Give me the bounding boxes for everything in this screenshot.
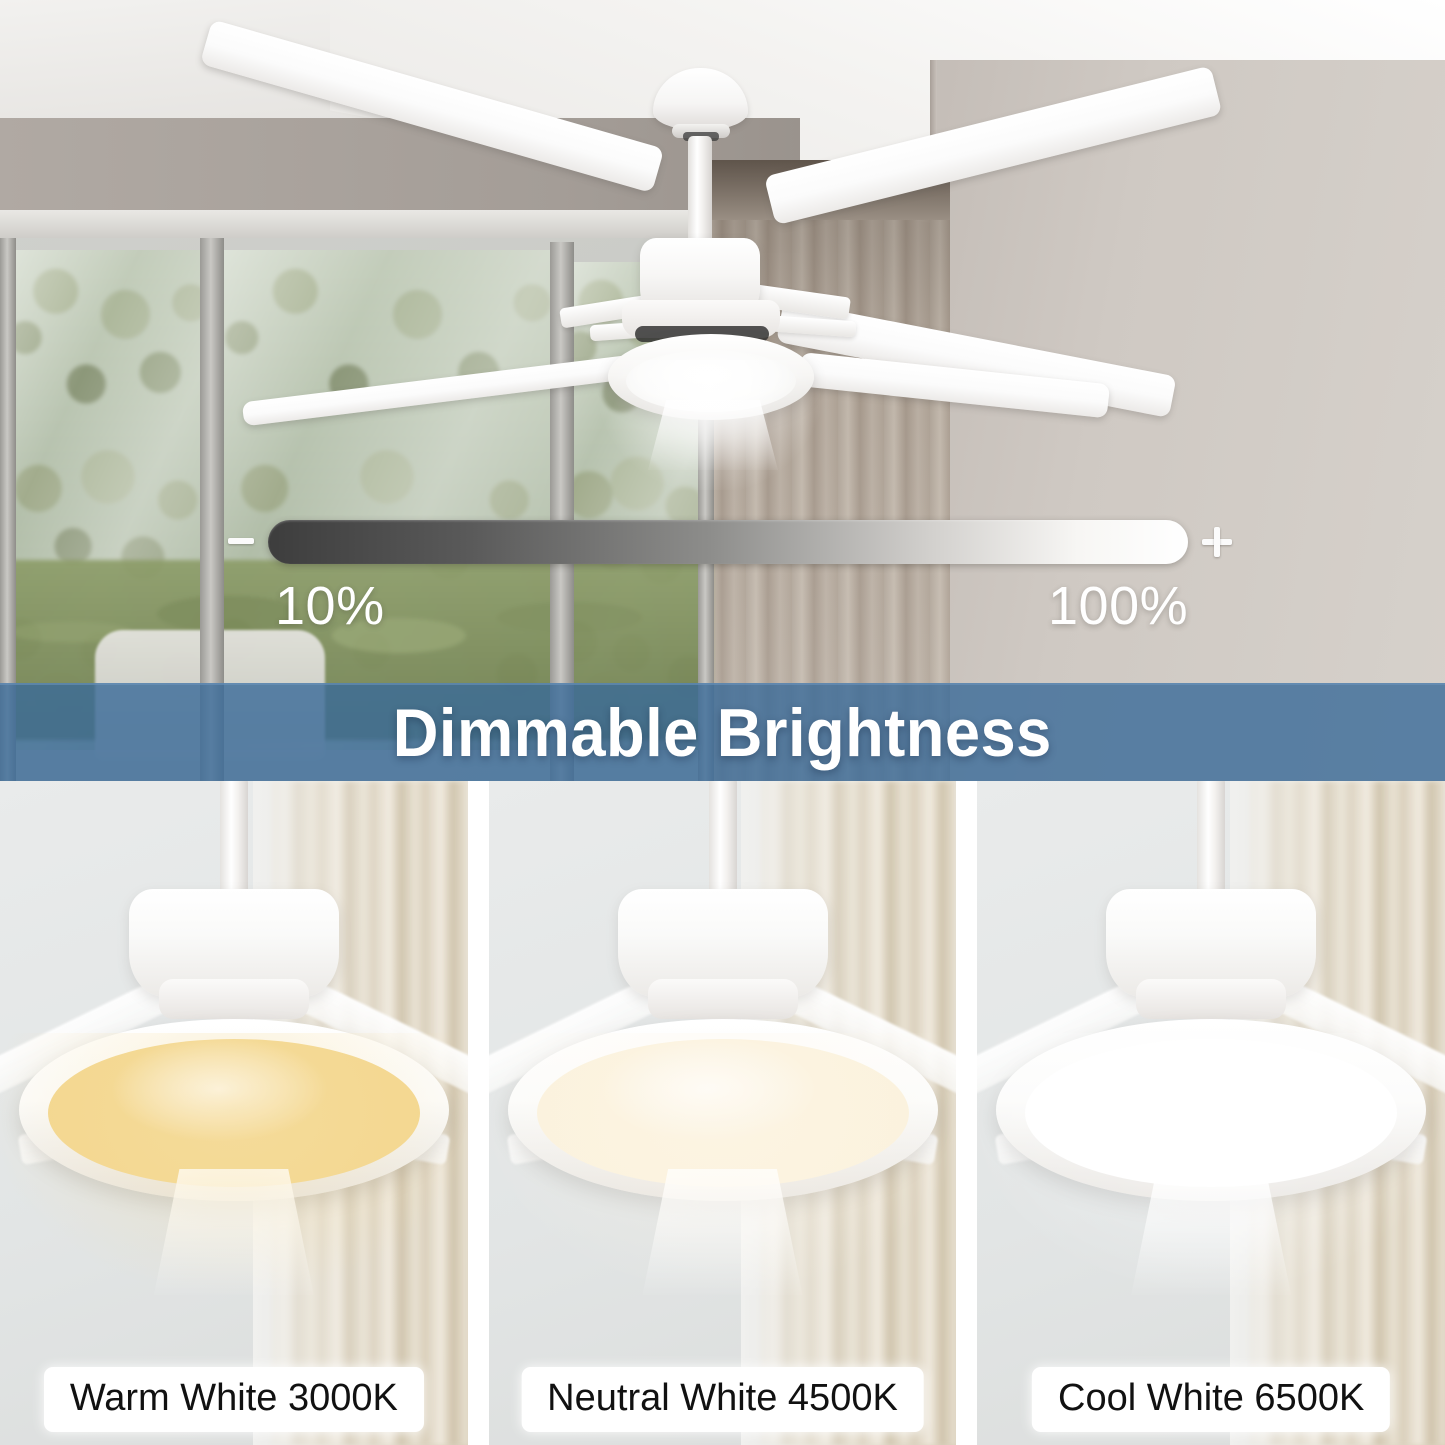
light-beam	[1131, 1169, 1291, 1295]
color-temp-label: Neutral White 4500K	[521, 1367, 924, 1432]
light-diffuser	[537, 1039, 909, 1187]
brightness-max-label: 100%	[1048, 575, 1188, 637]
fan-blade-middle-left	[242, 350, 672, 426]
fan-motor-base	[648, 979, 798, 1019]
fan-motor-base	[1136, 979, 1286, 1019]
fan-blade-upper-right	[764, 65, 1222, 225]
fan-downrod	[1197, 781, 1225, 895]
panel-neutral-white: Neutral White 4500K	[489, 781, 957, 1445]
light-beam	[643, 1169, 803, 1295]
brightness-slider-track[interactable]	[268, 520, 1188, 564]
hero-room-scene: 10% 100%	[0, 0, 1445, 781]
fan-canopy	[653, 68, 748, 130]
minus-icon[interactable]	[228, 538, 254, 544]
product-infographic: 10% 100% Dimmable Brightness Warm White …	[0, 0, 1445, 1445]
color-temperature-panels: Warm White 3000K Neutral White 4500K	[0, 781, 1445, 1445]
brightness-min-label: 10%	[275, 575, 385, 637]
fan-blade-upper-left	[200, 19, 664, 193]
color-temp-label: Cool White 6500K	[1032, 1367, 1390, 1432]
light-diffuser	[1025, 1039, 1397, 1187]
panel-warm-white: Warm White 3000K	[0, 781, 468, 1445]
light-diffuser	[48, 1039, 420, 1187]
color-temp-label: Warm White 3000K	[44, 1367, 424, 1432]
panel-divider	[963, 781, 970, 1445]
plus-icon[interactable]	[1202, 527, 1232, 557]
feature-banner: Dimmable Brightness	[0, 683, 1445, 781]
ceiling-fan	[0, 0, 1445, 781]
fan-motor-base	[159, 979, 309, 1019]
light-beam	[648, 400, 778, 470]
panel-divider	[475, 781, 482, 1445]
light-beam	[154, 1169, 314, 1295]
fan-downrod	[709, 781, 737, 895]
feature-banner-title: Dimmable Brightness	[393, 694, 1052, 772]
panel-cool-white: Cool White 6500K	[977, 781, 1445, 1445]
fan-downrod	[688, 136, 712, 254]
fan-downrod	[220, 781, 248, 895]
